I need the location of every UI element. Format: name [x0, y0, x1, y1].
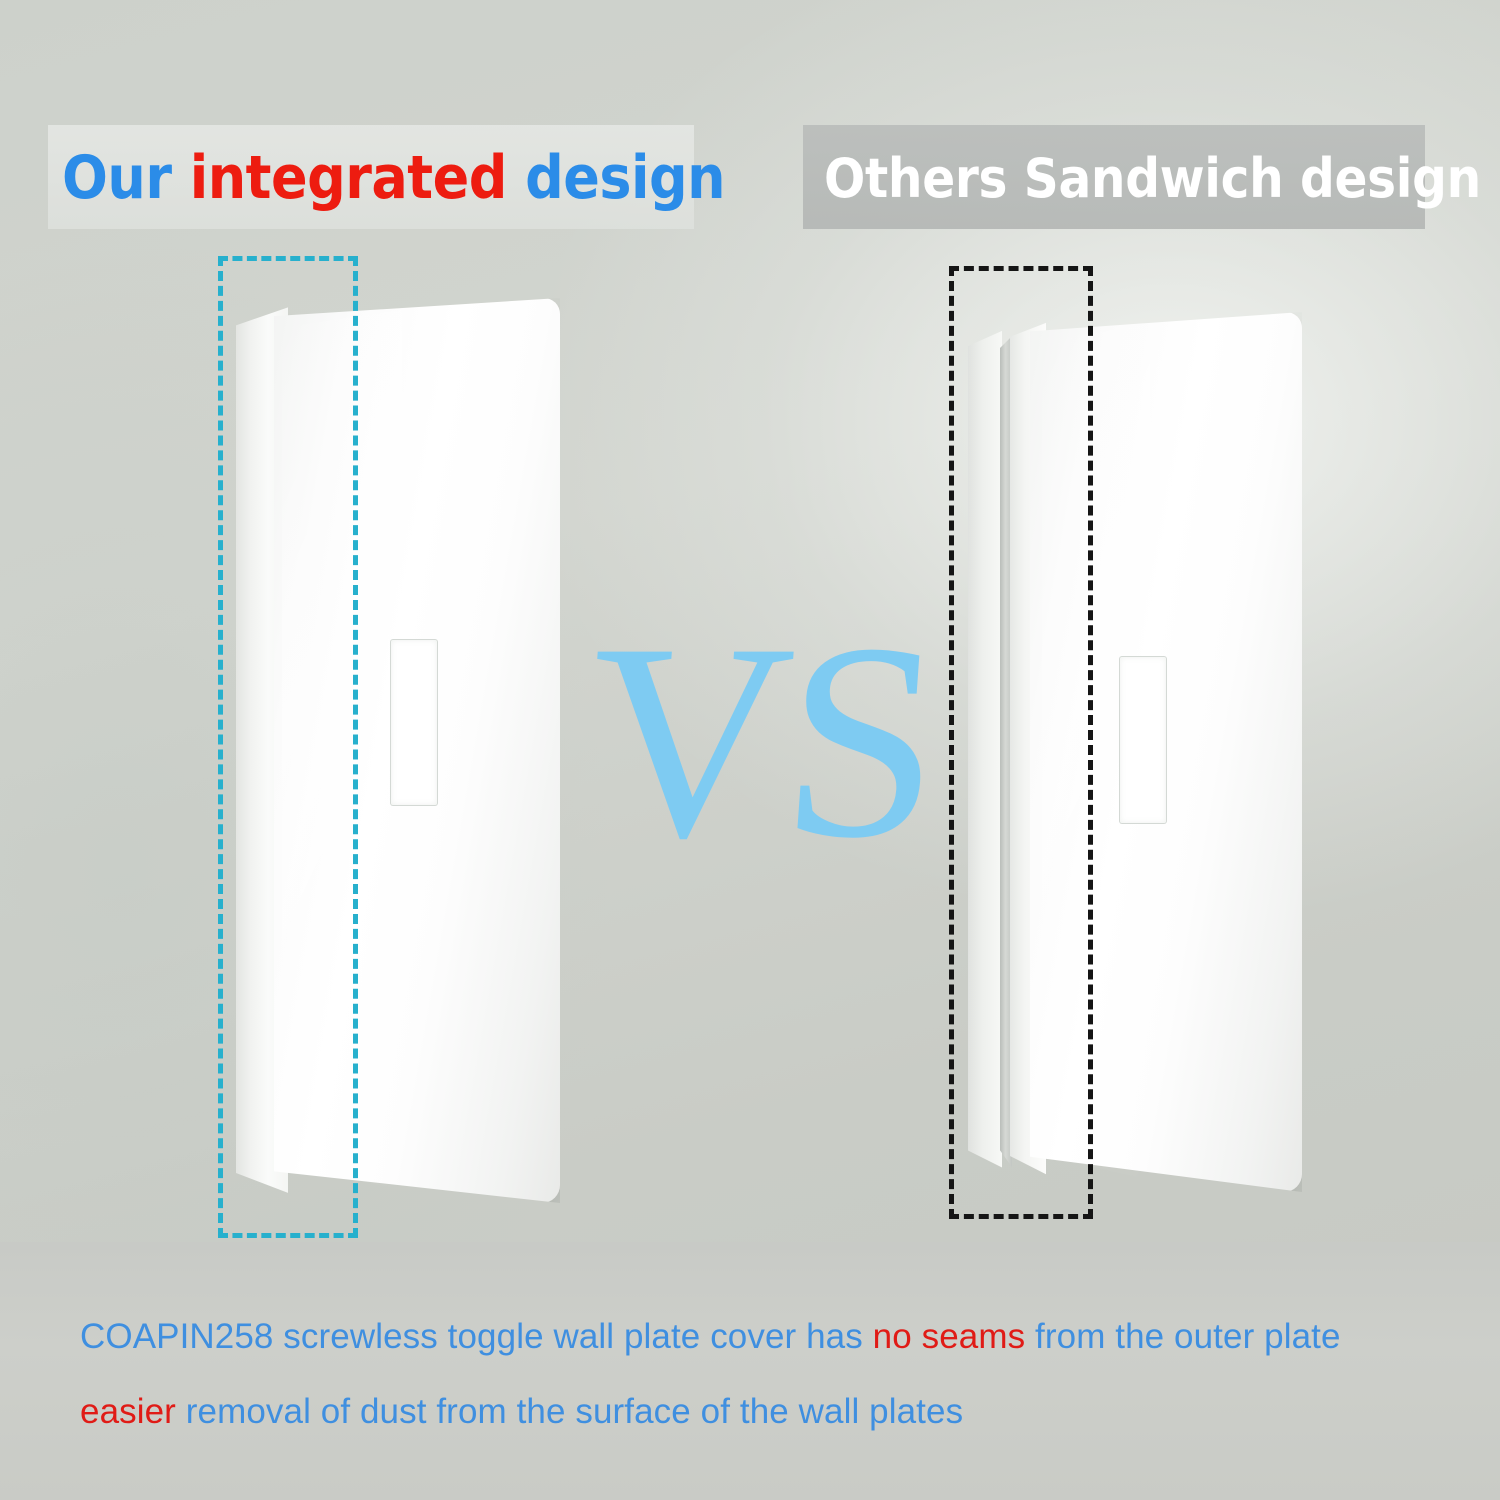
- caption-line2-red: easier: [80, 1392, 176, 1431]
- left-title-part-integrated: integrated: [190, 143, 507, 213]
- left-title-part-our: Our: [62, 143, 190, 213]
- caption-band: [0, 1242, 1500, 1500]
- vs-label: VS: [578, 596, 879, 896]
- left-title: Our integrated design: [62, 138, 692, 218]
- comparison-image: Our integrated design Others Sandwich de…: [0, 0, 1500, 1500]
- left-edge-callout-box: [218, 256, 358, 1238]
- caption-line2-blue: removal of dust from the surface of the …: [176, 1392, 963, 1431]
- right-plate-toggle-slot: [1120, 657, 1166, 823]
- caption-line-1: COAPIN258 screwless toggle wall plate co…: [80, 1317, 1341, 1357]
- right-edge-callout-box: [949, 266, 1093, 1219]
- left-title-part-design: design: [507, 143, 725, 213]
- right-title: Others Sandwich design: [824, 138, 1424, 218]
- left-plate-toggle-slot: [391, 640, 437, 805]
- caption-line1-red: no seams: [873, 1317, 1026, 1356]
- caption-line-2: easier removal of dust from the surface …: [80, 1392, 963, 1432]
- caption-line1-blue-1: COAPIN258 screwless toggle wall plate co…: [80, 1317, 873, 1356]
- caption-line1-blue-2: from the outer plate: [1025, 1317, 1340, 1356]
